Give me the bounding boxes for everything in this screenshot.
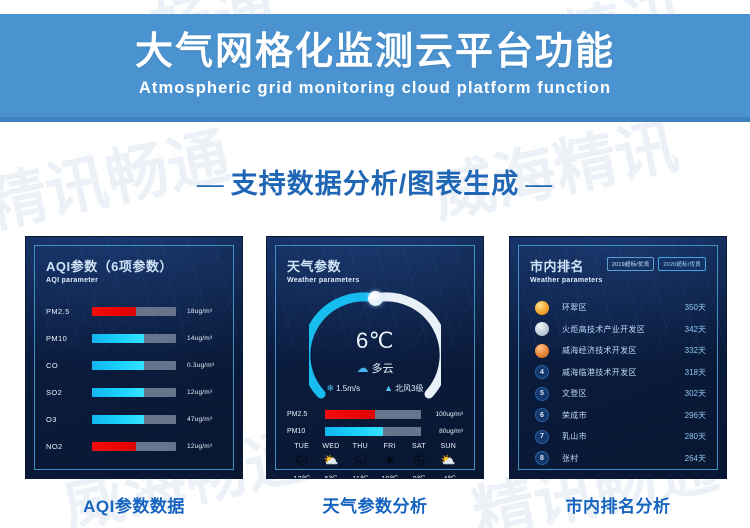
cloud-icon: ☁ <box>357 361 369 375</box>
rank-number-badge: 5 <box>535 387 549 401</box>
ranking-city-name: 威海临港技术开发区 <box>562 367 637 378</box>
panel-weather-subtitle: Weather parameters <box>287 277 463 284</box>
caption-aqi: AQI参数数据 <box>25 492 243 517</box>
aqi-row: NO212ug/m³ <box>46 434 222 459</box>
aqi-progress-bar <box>92 415 176 424</box>
forecast-temps-row: 12℃5℃11℃10℃8℃-4℃ <box>287 474 463 479</box>
panel-aqi-title: AQI参数（6项参数） <box>46 256 222 275</box>
gauge-condition: ☁ 多云 <box>287 360 463 376</box>
rain-icon: 🌧 <box>404 452 433 468</box>
ranking-days-value: 302天 <box>685 388 706 399</box>
aqi-param-value: 18ug/m³ <box>176 308 222 315</box>
panel-aqi-inner: AQI参数（6项参数） AQI parameter PM2.518ug/m³PM… <box>34 245 234 470</box>
ranking-city-name: 火炬高技术产业开发区 <box>562 324 645 335</box>
filter-2019-button[interactable]: 2019超标/优良 <box>607 257 655 271</box>
caption-ranking: 市内排名分析 <box>509 492 727 517</box>
weather-bar-name: PM2.5 <box>287 411 325 418</box>
ranking-days-value: 332天 <box>685 345 706 356</box>
panel-weather-title: 天气参数 <box>287 256 463 275</box>
medal-icon <box>535 344 549 358</box>
gauge-condition-label: 多云 <box>372 360 394 376</box>
aqi-list: PM2.518ug/m³PM1014ug/m³CO0.3ug/m³SO212ug… <box>46 299 222 459</box>
forecast-temp-label: 12℃ <box>287 474 316 479</box>
ranking-city-name: 乳山市 <box>562 431 587 442</box>
ranking-city-name: 文登区 <box>562 388 587 399</box>
gauge-temperature: 6℃ <box>287 328 463 354</box>
page-root: 精讯畅通 威海精讯 畅通 精讯 威海畅通 精讯畅通 大气网格化监测云平台功能 A… <box>0 0 750 528</box>
wind-arrow-icon: ▲ <box>384 383 393 393</box>
panel-aqi: AQI参数（6项参数） AQI parameter PM2.518ug/m³PM… <box>25 236 243 479</box>
weather-progress-fill <box>325 427 383 436</box>
forecast-temp-label: 11℃ <box>346 474 375 479</box>
aqi-row: SO212ug/m³ <box>46 380 222 405</box>
ranking-city-name: 威海经济技术开发区 <box>562 345 637 356</box>
header-banner: 大气网格化监测云平台功能 Atmospheric grid monitoring… <box>0 14 750 122</box>
aqi-progress-bar <box>92 442 176 451</box>
ranking-row[interactable]: 火炬高技术产业开发区342天 <box>530 319 706 341</box>
aqi-param-value: 47ug/m³ <box>176 416 222 423</box>
weather-bar-row: PM1080ug/m³ <box>287 423 463 440</box>
aqi-progress-fill <box>92 442 136 451</box>
aqi-param-value: 12ug/m³ <box>176 389 222 396</box>
aqi-param-name: SO2 <box>46 388 92 397</box>
ranking-row[interactable]: 7乳山市280天 <box>530 426 706 448</box>
ranking-city-name: 环翠区 <box>562 302 587 313</box>
medal-icon <box>535 322 549 336</box>
aqi-row: CO0.3ug/m³ <box>46 353 222 378</box>
aqi-row: PM1014ug/m³ <box>46 326 222 351</box>
aqi-param-name: O3 <box>46 415 92 424</box>
forecast-day-label: SAT <box>404 443 433 450</box>
rain-icon: 🌧 <box>287 452 316 468</box>
panel-weather-inner: 天气参数 Weather parameters 6℃ ☁ 多云 <box>275 245 475 470</box>
weather-progress-bar <box>325 410 421 419</box>
ranking-days-value: 296天 <box>685 410 706 421</box>
wind-speed-group: ❄1.5m/s <box>327 383 361 394</box>
wind-dir-group: ▲北风3级 <box>384 383 423 394</box>
ranking-row[interactable]: 环翠区350天 <box>530 297 706 319</box>
weather-bar-value: 100ug/m³ <box>421 411 463 418</box>
rank-number-badge: 6 <box>535 408 549 422</box>
page-title: 大气网格化监测云平台功能 <box>135 33 615 73</box>
gauge-knob-icon <box>368 291 383 306</box>
ranking-days-value: 350天 <box>685 302 706 313</box>
aqi-param-name: PM2.5 <box>46 307 92 316</box>
filter-2020-button[interactable]: 2020超标/优良 <box>658 257 706 271</box>
weather-bar-name: PM10 <box>287 428 325 435</box>
weather-gauge: 6℃ ☁ 多云 ❄1.5m/s ▲北风3级 <box>287 290 463 406</box>
aqi-progress-fill <box>92 334 144 343</box>
panels-row: AQI参数（6项参数） AQI parameter PM2.518ug/m³PM… <box>0 236 750 484</box>
panel-ranking-subtitle: Weather parameters <box>530 277 706 284</box>
forecast-temp-label: 5℃ <box>316 474 345 479</box>
ranking-list: 环翠区350天火炬高技术产业开发区342天威海经济技术开发区332天4威海临港技… <box>530 297 706 469</box>
forecast-day-label: THU <box>346 443 375 450</box>
forecast-temp-label: -4℃ <box>434 474 463 479</box>
panel-ranking-inner: 市内排名 Weather parameters 2019超标/优良 2020超标… <box>518 245 718 470</box>
ranking-header: 市内排名 Weather parameters 2019超标/优良 2020超标… <box>530 256 706 284</box>
aqi-param-name: NO2 <box>46 442 92 451</box>
dash-right: — <box>519 169 559 199</box>
caption-weather: 天气参数分析 <box>266 492 484 517</box>
weather-progress-fill <box>325 410 375 419</box>
aqi-param-name: PM10 <box>46 334 92 343</box>
wind-dir-value: 北风3级 <box>395 384 423 393</box>
sun-icon: ☀ <box>375 452 404 468</box>
section-title: —支持数据分析/图表生成— <box>0 162 750 201</box>
aqi-progress-bar <box>92 361 176 370</box>
rank-number-badge: 4 <box>535 365 549 379</box>
fan-icon: ❄ <box>327 383 335 393</box>
weather-bar-value: 80ug/m³ <box>421 428 463 435</box>
gauge-meta: ❄1.5m/s ▲北风3级 <box>287 383 463 394</box>
partly-sun-icon: ⛅ <box>434 452 463 468</box>
ranking-days-value: 342天 <box>685 324 706 335</box>
forecast-day-label: FRI <box>375 443 404 450</box>
aqi-param-name: CO <box>46 361 92 370</box>
ranking-row[interactable]: 威海经济技术开发区332天 <box>530 340 706 362</box>
aqi-progress-fill <box>92 307 136 316</box>
ranking-days-value: 280天 <box>685 431 706 442</box>
forecast-day-label: SUN <box>434 443 463 450</box>
ranking-row[interactable]: 5文登区302天 <box>530 383 706 405</box>
aqi-progress-fill <box>92 388 144 397</box>
panel-ranking: 市内排名 Weather parameters 2019超标/优良 2020超标… <box>509 236 727 479</box>
section-title-text: 支持数据分析/图表生成 <box>231 169 520 199</box>
forecast-temp-label: 10℃ <box>375 474 404 479</box>
dash-left: — <box>191 169 231 199</box>
panel-aqi-subtitle: AQI parameter <box>46 277 222 284</box>
weather-bars: PM2.5100ug/m³PM1080ug/m³ <box>287 406 463 440</box>
forecast-temp-label: 8℃ <box>404 474 433 479</box>
aqi-row: PM2.518ug/m³ <box>46 299 222 324</box>
aqi-param-value: 0.3ug/m³ <box>176 362 222 369</box>
forecast-days-row: TUEWEDTHUFRISATSUN <box>287 443 463 450</box>
wind-speed-value: 1.5m/s <box>336 384 360 393</box>
captions-row: AQI参数数据 天气参数分析 市内排名分析 <box>0 492 750 522</box>
weather-bar-row: PM2.5100ug/m³ <box>287 406 463 423</box>
panel-weather: 天气参数 Weather parameters 6℃ ☁ 多云 <box>266 236 484 479</box>
ranking-filter-buttons: 2019超标/优良 2020超标/优良 <box>607 257 706 271</box>
weather-progress-bar <box>325 427 421 436</box>
ranking-city-name: 荣成市 <box>562 410 587 421</box>
ranking-row[interactable]: 4威海临港技术开发区318天 <box>530 362 706 384</box>
aqi-param-value: 14ug/m³ <box>176 335 222 342</box>
page-subtitle: Atmospheric grid monitoring cloud platfo… <box>139 79 611 98</box>
ranking-row[interactable]: 8张村264天 <box>530 448 706 470</box>
partly-sun-icon: ⛅ <box>316 452 345 468</box>
aqi-progress-bar <box>92 334 176 343</box>
rank-number-badge: 8 <box>535 451 549 465</box>
aqi-progress-fill <box>92 361 144 370</box>
aqi-progress-fill <box>92 415 144 424</box>
ranking-days-value: 318天 <box>685 367 706 378</box>
ranking-city-name: 张村 <box>562 453 579 464</box>
weather-forecast: TUEWEDTHUFRISATSUN 🌧⛅🌧☀🌧⛅ 12℃5℃11℃10℃8℃-… <box>287 443 463 479</box>
rank-number-badge: 7 <box>535 430 549 444</box>
medal-icon <box>535 301 549 315</box>
aqi-param-value: 12ug/m³ <box>176 443 222 450</box>
forecast-day-label: TUE <box>287 443 316 450</box>
forecast-icons-row: 🌧⛅🌧☀🌧⛅ <box>287 452 463 468</box>
ranking-days-value: 264天 <box>685 453 706 464</box>
aqi-progress-bar <box>92 307 176 316</box>
ranking-row[interactable]: 6荣成市296天 <box>530 405 706 427</box>
aqi-progress-bar <box>92 388 176 397</box>
aqi-row: O347ug/m³ <box>46 407 222 432</box>
rain-icon: 🌧 <box>346 452 375 468</box>
forecast-day-label: WED <box>316 443 345 450</box>
